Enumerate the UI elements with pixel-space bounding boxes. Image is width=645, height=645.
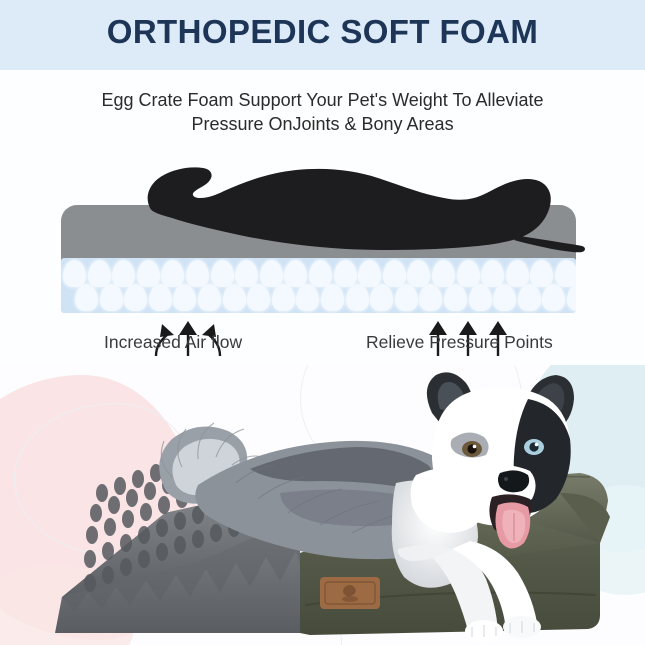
foam-bump (321, 284, 344, 311)
foam-bump (161, 260, 184, 287)
foam-bump (407, 260, 430, 287)
foam-bump (247, 284, 270, 311)
foam-bump (358, 260, 381, 287)
foam-bump (173, 284, 196, 311)
foam-bump (383, 260, 406, 287)
foam-bump (88, 260, 111, 287)
foam-bump (518, 284, 541, 311)
foam-bump (481, 260, 504, 287)
pressure-label: Relieve Pressure Points (366, 332, 553, 353)
foam-bump (346, 284, 369, 311)
foam-bump (444, 284, 467, 311)
foam-bump (112, 260, 135, 287)
foam-bump (296, 284, 319, 311)
foam-bump (284, 260, 307, 287)
foam-bump (75, 284, 98, 311)
foam-bump (334, 260, 357, 287)
infographic-page: ORTHOPEDIC SOFT FOAM Egg Crate Foam Supp… (0, 0, 645, 645)
foam-bump (186, 260, 209, 287)
foam-bump (309, 260, 332, 287)
page-title: ORTHOPEDIC SOFT FOAM (0, 13, 645, 51)
product-photo (0, 365, 645, 645)
foam-bump (100, 284, 123, 311)
foam-bump (235, 260, 258, 287)
foam-bump (198, 284, 221, 311)
subtitle-line-2: Pressure OnJoints & Bony Areas (0, 112, 645, 136)
foam-bump (137, 260, 160, 287)
foam-bump (419, 284, 442, 311)
subtitle: Egg Crate Foam Support Your Pet's Weight… (0, 88, 645, 136)
foam-bump (542, 284, 565, 311)
foam-bump (567, 284, 576, 311)
foam-bump (272, 284, 295, 311)
foam-bump (370, 284, 393, 311)
foam-bump (457, 260, 480, 287)
foam-bump (530, 260, 553, 287)
foam-bump (469, 284, 492, 311)
dog-bed-photo-illustration (0, 365, 645, 645)
subtitle-line-1: Egg Crate Foam Support Your Pet's Weight… (0, 88, 645, 112)
foam-bump (493, 284, 516, 311)
foam-bump (432, 260, 455, 287)
foam-bump (124, 284, 147, 311)
egg-crate-foam-layer (61, 258, 576, 313)
foam-bump (555, 260, 576, 287)
brand-tag (320, 577, 380, 609)
foam-bump (260, 260, 283, 287)
foam-bump (149, 284, 172, 311)
foam-bump (211, 260, 234, 287)
airflow-label: Increased Air flow (104, 332, 242, 353)
foam-bump (223, 284, 246, 311)
foam-bump (506, 260, 529, 287)
dog-silhouette-icon (58, 156, 588, 264)
foam-bump (63, 260, 86, 287)
foam-bump (395, 284, 418, 311)
